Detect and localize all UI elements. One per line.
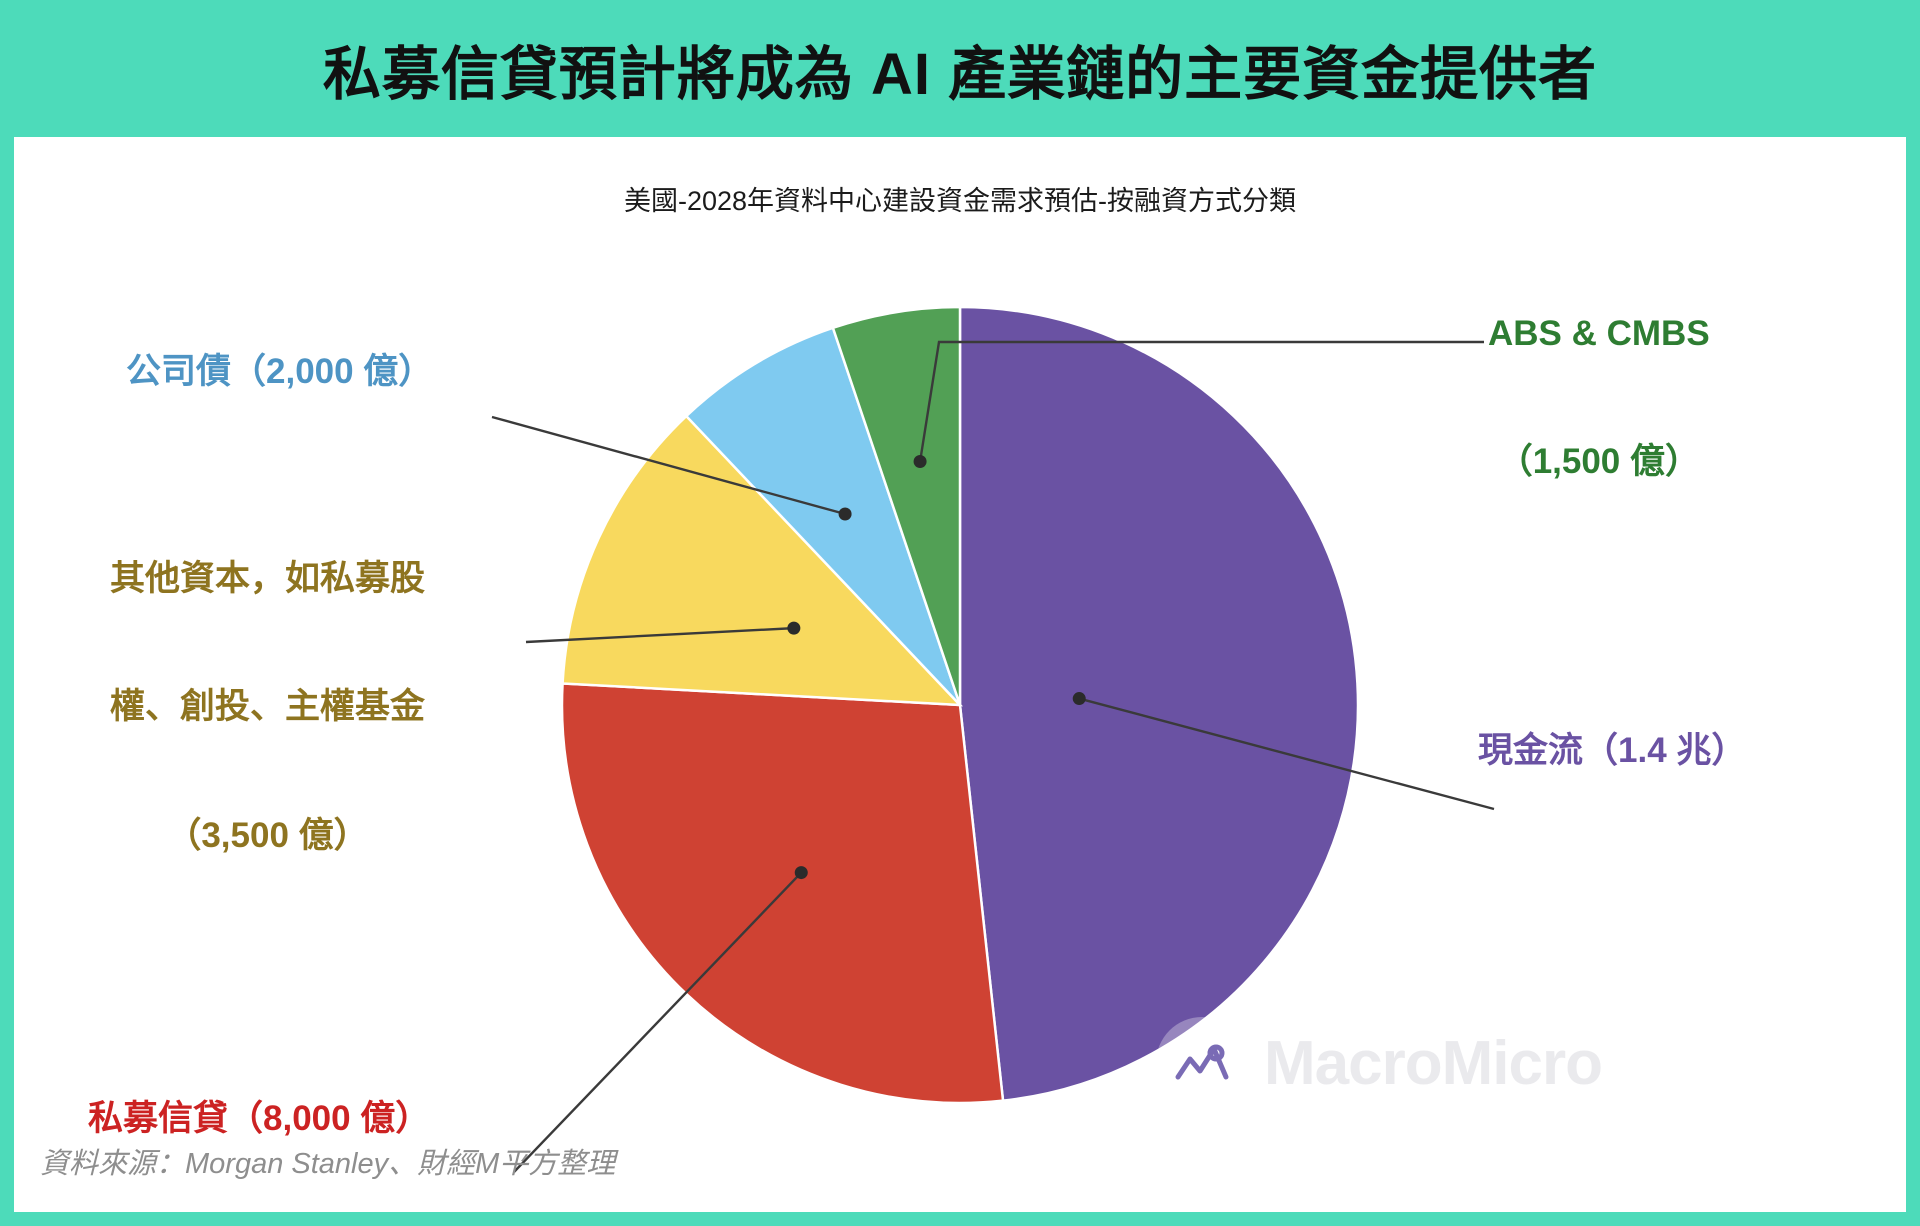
- callout-abs-cmbs: ABS & CMBS （1,500 億）: [1488, 228, 1710, 527]
- callout-other-capital-line1: 其他資本，如私募股: [110, 558, 425, 601]
- source-note: 資料來源：Morgan Stanley、財經M平方整理: [40, 1140, 615, 1182]
- frame-border-bottom: [0, 1212, 1920, 1226]
- callout-cash-flow-line1: 現金流（1.4 兆）: [1478, 730, 1746, 773]
- pie-slice-group: [562, 307, 1358, 1103]
- callout-other-capital-line2: 權、創投、主權基金: [110, 686, 425, 729]
- callout-private-credit-line1: 私募信貸（8,000 億）: [88, 1098, 430, 1141]
- callout-other-capital-line3: （3,500 億）: [110, 815, 425, 858]
- leader-dot: [839, 508, 852, 521]
- header-band: 私募信貸預計將成為 AI 產業鏈的主要資金提供者: [0, 0, 1920, 137]
- callout-corporate-bond: 公司債（2,000 億）: [126, 266, 433, 437]
- leader-dot: [787, 622, 800, 635]
- frame-border-right: [1906, 137, 1920, 1226]
- callout-cash-flow: 現金流（1.4 兆）: [1478, 645, 1746, 816]
- callout-other-capital: 其他資本，如私募股 權、創投、主權基金 （3,500 億）: [110, 473, 425, 900]
- callout-corporate-bond-line1: 公司債（2,000 億）: [126, 351, 433, 394]
- leader-dot: [914, 455, 927, 468]
- callout-abs-cmbs-line1: ABS & CMBS: [1488, 313, 1710, 356]
- callout-abs-cmbs-line2: （1,500 億）: [1488, 441, 1710, 484]
- leader-dot: [795, 866, 808, 879]
- page-title: 私募信貸預計將成為 AI 產業鏈的主要資金提供者: [323, 27, 1597, 111]
- leader-dot: [1073, 692, 1086, 705]
- frame-border-left: [0, 137, 14, 1226]
- pie-slice: [960, 307, 1358, 1101]
